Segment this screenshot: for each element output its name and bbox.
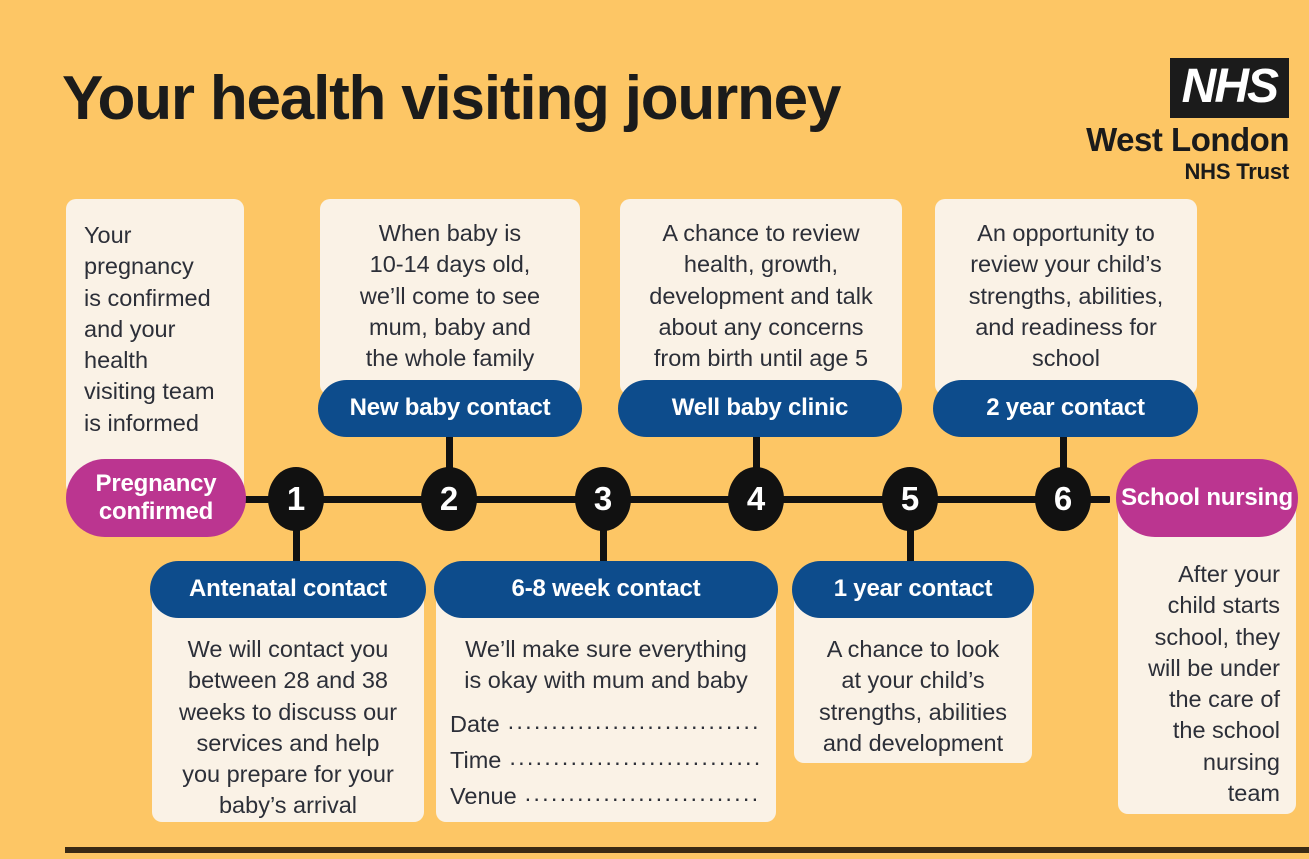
nhs-logo: NHS West London NHS Trust bbox=[1057, 58, 1289, 183]
page-title: Your health visiting journey bbox=[62, 66, 840, 131]
card-new-baby-contact-body: When baby is 10-14 days old, we’ll come … bbox=[320, 199, 580, 374]
timeline-node-2[interactable]: 2 bbox=[421, 467, 477, 531]
card-new-baby-contact: When baby is 10-14 days old, we’ll come … bbox=[320, 199, 580, 395]
card-pregnancy-confirmed: Your pregnancy is confirmed and your hea… bbox=[66, 199, 244, 495]
pill-two-year-contact[interactable]: 2 year contact bbox=[933, 380, 1198, 437]
card-well-baby-clinic: A chance to review health, growth, devel… bbox=[620, 199, 902, 395]
card-antenatal-contact: We will contact you between 28 and 38 we… bbox=[152, 590, 424, 822]
pill-one-year-contact[interactable]: 1 year contact bbox=[792, 561, 1034, 618]
nhs-trust-sub: NHS Trust bbox=[1057, 160, 1289, 183]
pill-six-eight-week-contact[interactable]: 6-8 week contact bbox=[434, 561, 778, 618]
infographic-poster: Your health visiting journey NHS West Lo… bbox=[0, 0, 1309, 859]
field-label-venue: Venue bbox=[450, 783, 517, 810]
nhs-trust-name: West London bbox=[1057, 123, 1289, 158]
bottom-accent-bar bbox=[65, 847, 1309, 853]
pill-new-baby-contact[interactable]: New baby contact bbox=[318, 380, 582, 437]
field-row-date[interactable]: Date .................................. bbox=[450, 711, 762, 738]
field-dots-venue: .................................. bbox=[525, 782, 762, 806]
field-dots-time: .................................. bbox=[509, 746, 762, 770]
card-school-nursing-body: After your child starts school, they wil… bbox=[1118, 490, 1296, 809]
pill-well-baby-clinic[interactable]: Well baby clinic bbox=[618, 380, 902, 437]
card-two-year-contact-body: An opportunity to review your child’s st… bbox=[935, 199, 1197, 374]
card-two-year-contact: An opportunity to review your child’s st… bbox=[935, 199, 1197, 395]
field-row-time[interactable]: Time .................................. bbox=[450, 747, 762, 774]
timeline-node-5[interactable]: 5 bbox=[882, 467, 938, 531]
timeline-rail bbox=[230, 496, 1110, 503]
card-pregnancy-confirmed-body: Your pregnancy is confirmed and your hea… bbox=[66, 199, 244, 439]
timeline-node-6[interactable]: 6 bbox=[1035, 467, 1091, 531]
card-well-baby-clinic-body: A chance to review health, growth, devel… bbox=[620, 199, 902, 374]
timeline-node-4[interactable]: 4 bbox=[728, 467, 784, 531]
field-dots-date: .................................. bbox=[508, 710, 762, 734]
field-label-date: Date bbox=[450, 711, 500, 738]
timeline-node-1[interactable]: 1 bbox=[268, 467, 324, 531]
card-six-eight-week-contact: We’ll make sure everything is okay with … bbox=[436, 590, 776, 822]
pill-pregnancy-confirmed[interactable]: Pregnancy confirmed bbox=[66, 459, 246, 537]
field-row-venue[interactable]: Venue .................................. bbox=[450, 783, 762, 810]
card-antenatal-contact-body: We will contact you between 28 and 38 we… bbox=[152, 590, 424, 822]
pill-school-nursing[interactable]: School nursing bbox=[1116, 459, 1298, 537]
pill-antenatal-contact[interactable]: Antenatal contact bbox=[150, 561, 426, 618]
field-label-time: Time bbox=[450, 747, 501, 774]
six-eight-week-fill-fields: Date .................................. … bbox=[436, 711, 776, 810]
card-school-nursing: After your child starts school, they wil… bbox=[1118, 490, 1296, 814]
nhs-badge-icon: NHS bbox=[1170, 58, 1289, 118]
timeline-node-3[interactable]: 3 bbox=[575, 467, 631, 531]
